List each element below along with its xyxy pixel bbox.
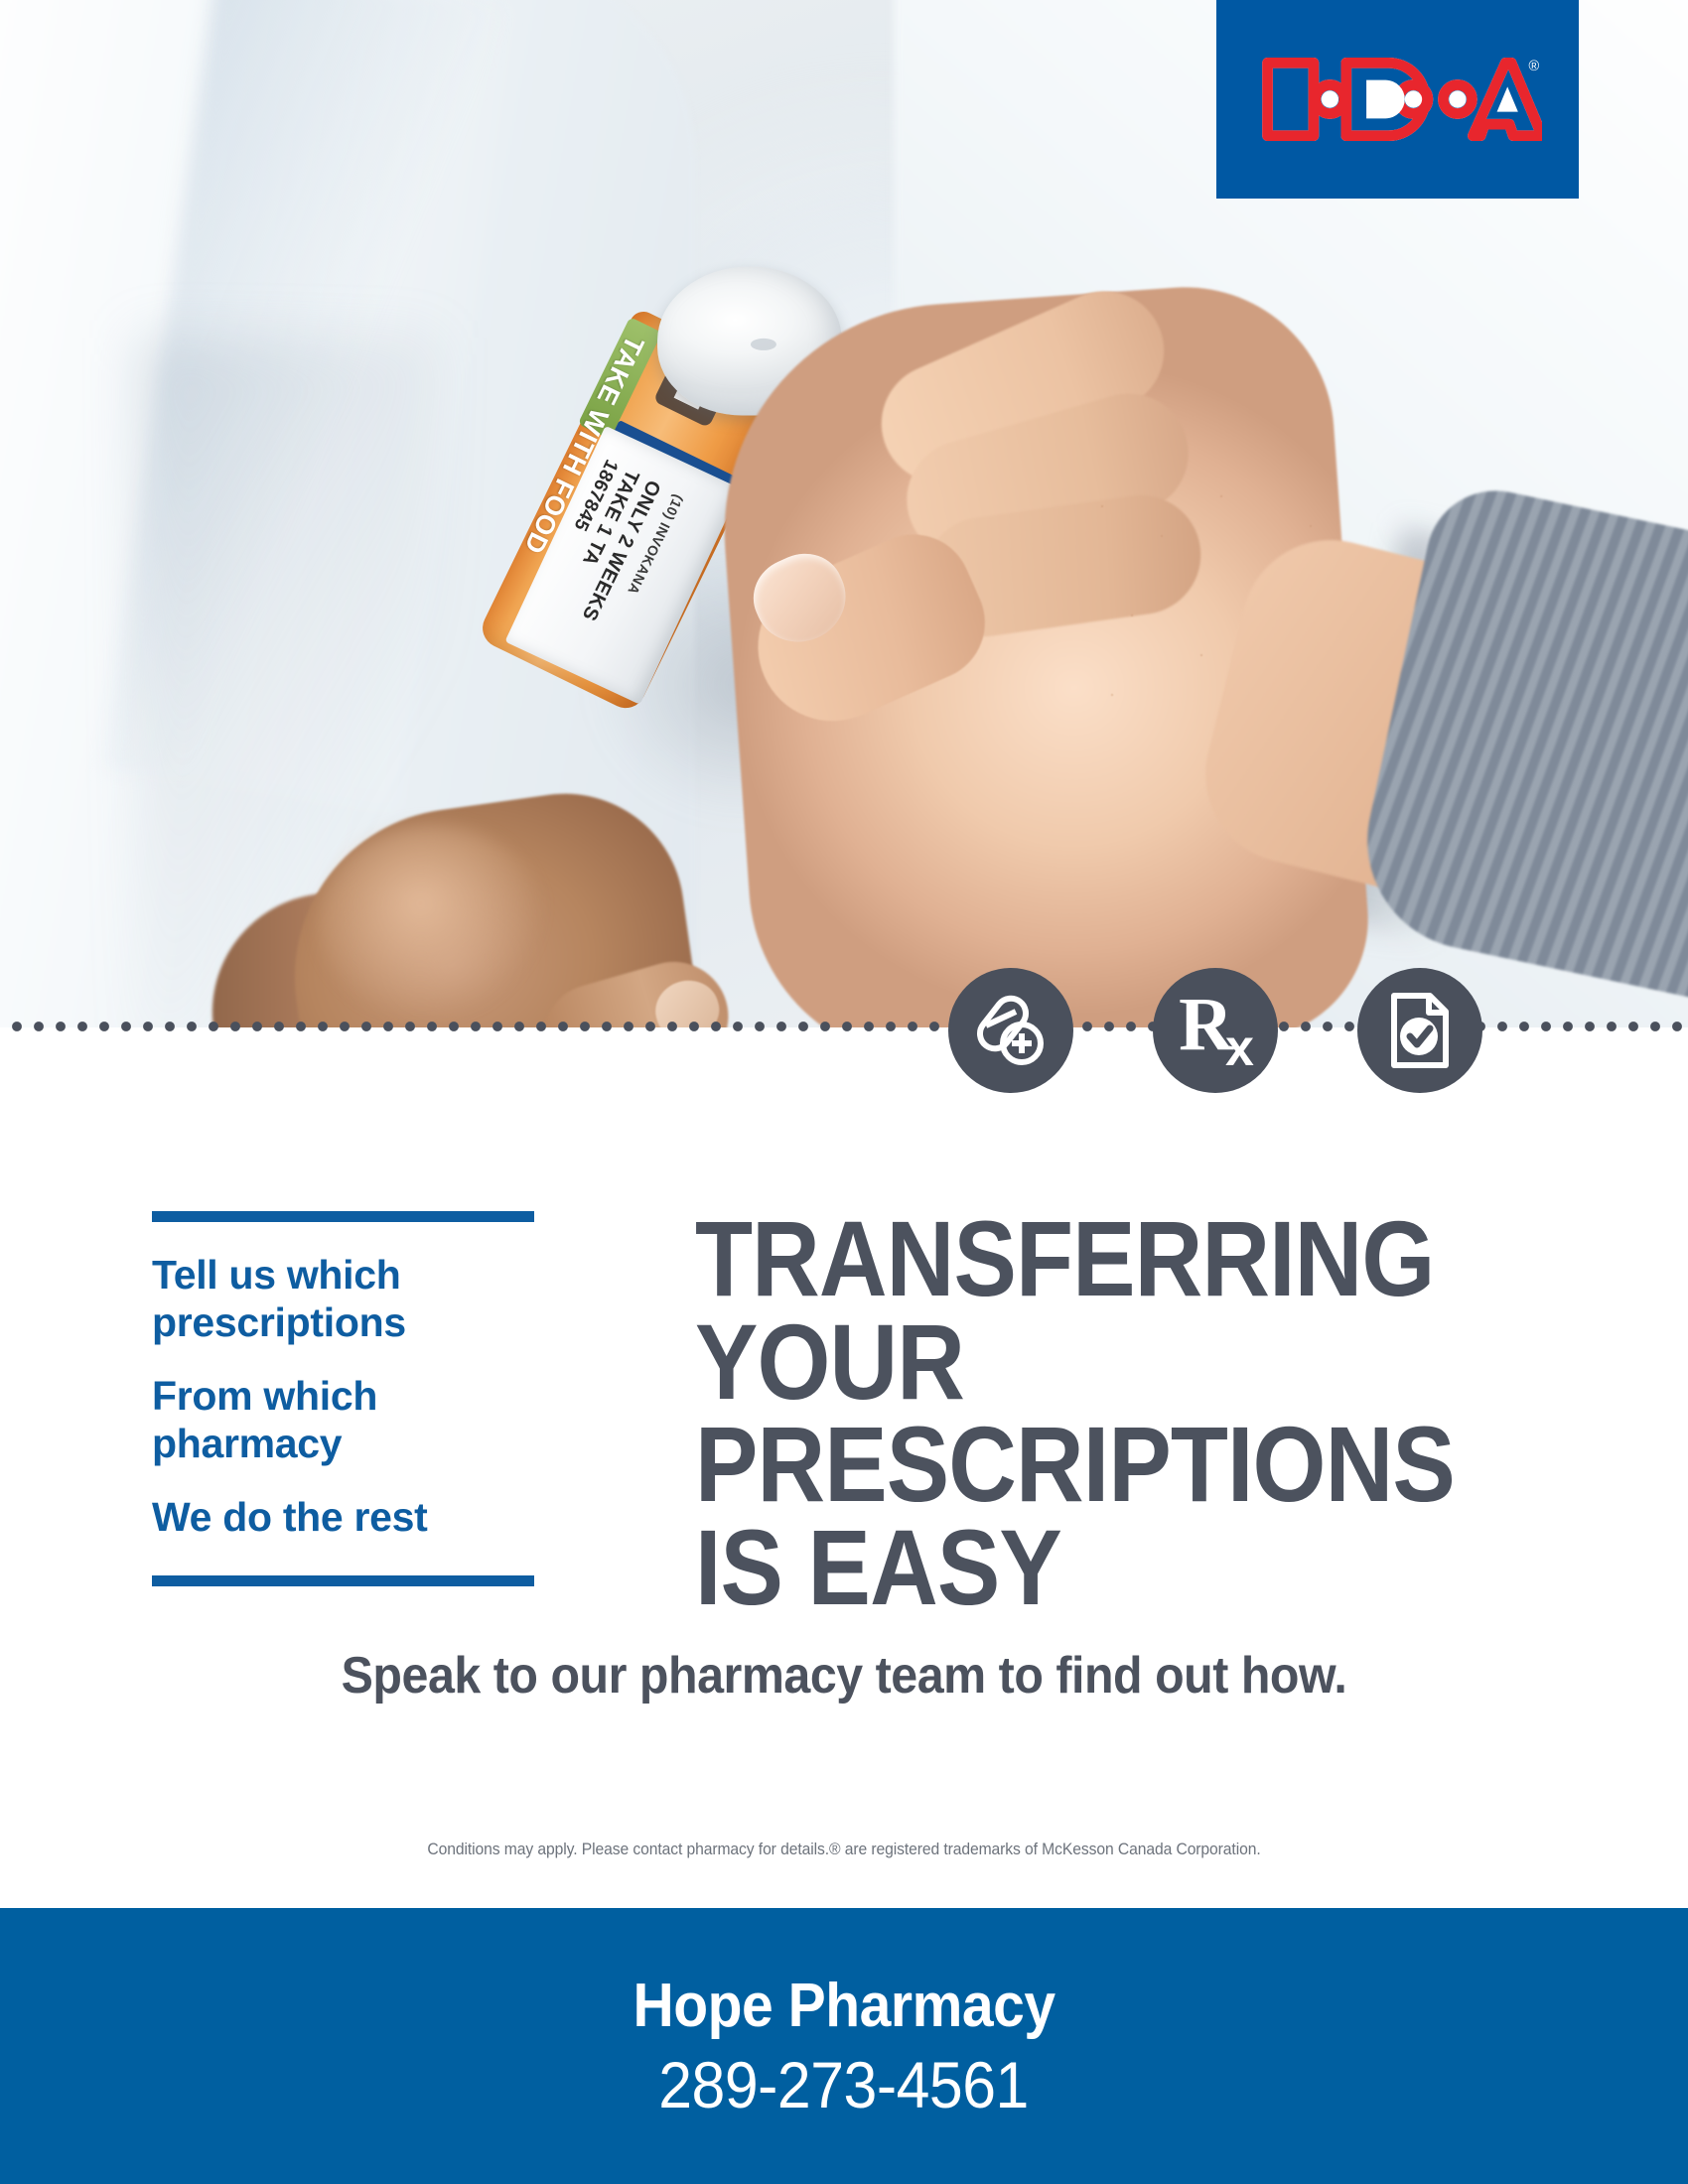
feature-icons-row: Rx bbox=[948, 956, 1504, 1105]
pharmacy-phone[interactable]: 289-273-4561 bbox=[659, 2047, 1030, 2122]
bullet-rule-bottom bbox=[152, 1575, 534, 1586]
document-check-icon bbox=[1357, 968, 1482, 1093]
pharmacist-knuckles-highlight bbox=[318, 824, 546, 1023]
subheadline: Speak to our pharmacy team to find out h… bbox=[60, 1646, 1629, 1706]
headline-line-2: YOUR bbox=[695, 1310, 1438, 1414]
pharmacy-footer: Hope Pharmacy 289-273-4561 bbox=[0, 1908, 1688, 2184]
bullet-item-1: Tell us which prescriptions bbox=[152, 1252, 534, 1347]
pills-plus-icon bbox=[948, 968, 1073, 1093]
registered-trademark-symbol: ® bbox=[1528, 59, 1539, 74]
ida-logo-mark: ® bbox=[1254, 42, 1542, 157]
pharmacy-name: Hope Pharmacy bbox=[633, 1971, 1055, 2041]
bullet-item-2: From which pharmacy bbox=[152, 1373, 534, 1468]
ida-logo: ® bbox=[1216, 0, 1579, 199]
headline-line-4: IS EASY bbox=[695, 1516, 1438, 1619]
poster-root: TAKE WITH FOOD 1867845 TAKE 1 TA ONLY 2 … bbox=[0, 0, 1688, 2184]
rx-glyph: Rx bbox=[1179, 987, 1252, 1074]
bullet-list: Tell us which prescriptions From which p… bbox=[152, 1211, 534, 1586]
headline-line-1: TRANSFERRING bbox=[695, 1207, 1438, 1310]
legal-disclaimer: Conditions may apply. Please contact pha… bbox=[43, 1841, 1646, 1859]
bullet-item-3: We do the rest bbox=[152, 1494, 534, 1542]
bottle-cap-groove bbox=[751, 339, 776, 350]
content-area: Tell us which prescriptions From which p… bbox=[0, 1040, 1688, 1908]
page-title: TRANSFERRING YOUR PRESCRIPTIONS IS EASY bbox=[695, 1207, 1438, 1619]
headline-line-3: PRESCRIPTIONS bbox=[695, 1413, 1438, 1516]
rx-icon: Rx bbox=[1153, 968, 1278, 1093]
bullet-rule-top bbox=[152, 1211, 534, 1222]
